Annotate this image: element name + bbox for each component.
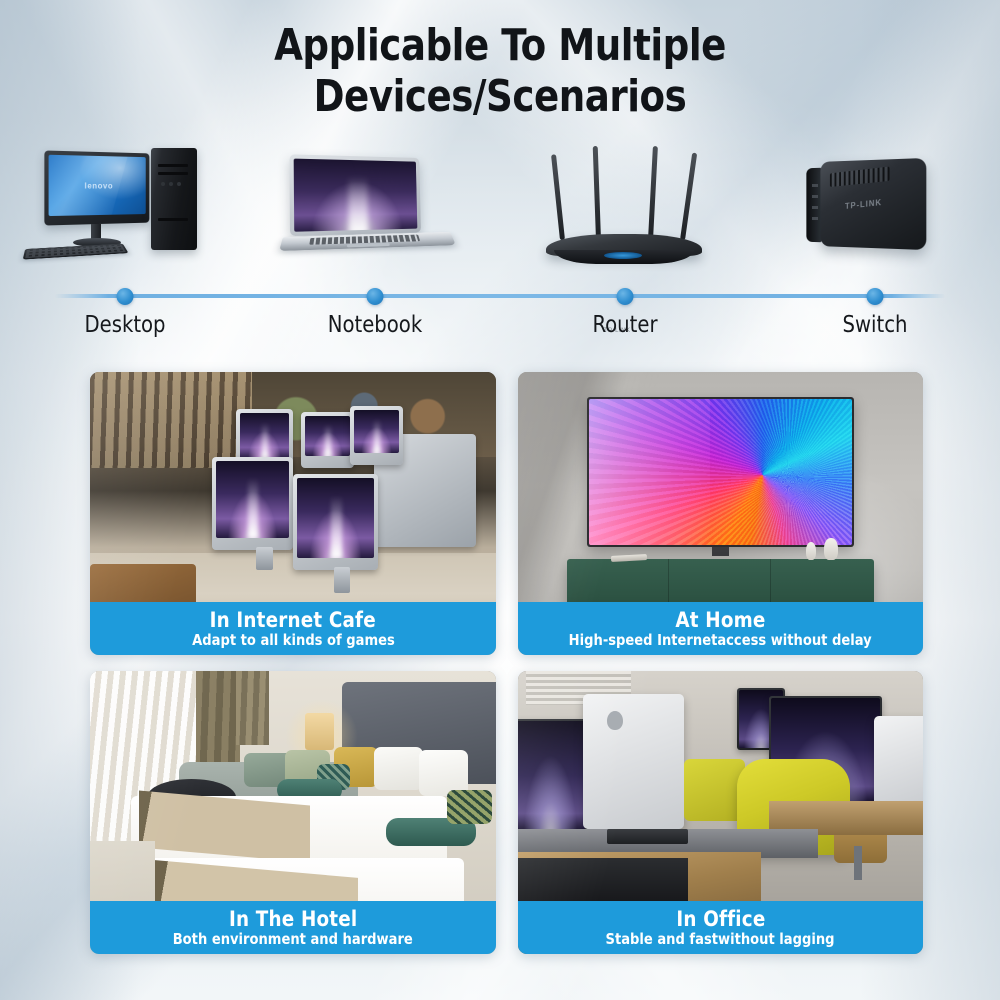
page-title-line-1: Applicable To Multiple bbox=[274, 20, 726, 71]
timeline-item-switch[interactable]: Switch bbox=[750, 282, 1000, 344]
timeline-items: Desktop Notebook Router Switch bbox=[0, 282, 1000, 344]
scenario-subtitle: High-speed Internetaccess without delay bbox=[569, 632, 872, 649]
promo-page: Applicable To Multiple Devices/Scenarios… bbox=[0, 0, 1000, 1000]
timeline-item-desktop[interactable]: Desktop bbox=[0, 282, 250, 344]
router-led-indicator bbox=[604, 252, 642, 259]
router-antenna bbox=[593, 146, 601, 240]
scenario-caption: In The Hotel Both environment and hardwa… bbox=[90, 901, 496, 954]
timeline-dot-icon bbox=[367, 288, 384, 305]
device-timeline: Desktop Notebook Router Switch bbox=[0, 282, 1000, 344]
router-antenna bbox=[680, 153, 697, 241]
scenario-card-row-top: In Internet Cafe Adapt to all kinds of g… bbox=[90, 372, 923, 655]
scenario-card-internet-cafe[interactable]: In Internet Cafe Adapt to all kinds of g… bbox=[90, 372, 496, 655]
device-cell-switch: TP-LINK bbox=[750, 140, 1000, 290]
switch-led-strip bbox=[812, 184, 818, 228]
laptop-screen bbox=[294, 159, 418, 232]
timeline-label: Desktop bbox=[84, 312, 165, 338]
scenario-subtitle: Adapt to all kinds of games bbox=[192, 632, 395, 649]
router-antenna bbox=[648, 146, 658, 240]
device-cell-router: TP-LINK bbox=[500, 140, 750, 290]
scenario-caption: At Home High-speed Internetaccess withou… bbox=[518, 602, 923, 655]
timeline-dot-icon bbox=[867, 288, 884, 305]
pc-tower-icon bbox=[151, 148, 197, 250]
laptop-icon bbox=[280, 156, 470, 266]
scenario-title: In Office bbox=[676, 908, 765, 930]
wifi-router-icon: TP-LINK bbox=[540, 144, 710, 268]
scenario-card-row-bottom: In The Hotel Both environment and hardwa… bbox=[90, 671, 923, 954]
scenario-title: In The Hotel bbox=[229, 908, 357, 930]
timeline-item-notebook[interactable]: Notebook bbox=[250, 282, 500, 344]
television-icon bbox=[587, 397, 854, 547]
page-title-line-2: Devices/Scenarios bbox=[30, 71, 970, 122]
timeline-dot-icon bbox=[117, 288, 134, 305]
scenario-subtitle: Both environment and hardware bbox=[173, 931, 413, 948]
page-title: Applicable To Multiple Devices/Scenarios bbox=[30, 0, 970, 122]
scenario-caption: In Office Stable and fastwithout lagging bbox=[518, 901, 923, 954]
timeline-label: Router bbox=[592, 312, 657, 338]
desktop-computer-icon: lenovo bbox=[25, 146, 225, 266]
timeline-item-router[interactable]: Router bbox=[500, 282, 750, 344]
laptop-trackpad bbox=[347, 243, 389, 247]
scenario-title: At Home bbox=[675, 609, 765, 631]
laptop-lid bbox=[289, 154, 420, 236]
scenario-subtitle: Stable and fastwithout lagging bbox=[606, 931, 835, 948]
timeline-label: Notebook bbox=[328, 312, 422, 338]
scenario-caption: In Internet Cafe Adapt to all kinds of g… bbox=[90, 602, 496, 655]
monitor-screen: lenovo bbox=[49, 155, 146, 216]
scenario-card-at-home[interactable]: At Home High-speed Internetaccess withou… bbox=[518, 372, 923, 655]
timeline-label: Switch bbox=[842, 312, 907, 338]
monitor-icon: lenovo bbox=[44, 150, 149, 225]
device-illustration-row: lenovo bbox=[0, 140, 1000, 290]
scenario-card-in-office[interactable]: In Office Stable and fastwithout lagging bbox=[518, 671, 923, 954]
network-switch-icon: TP-LINK bbox=[800, 154, 950, 264]
timeline-dot-icon bbox=[617, 288, 634, 305]
monitor-brand-label: lenovo bbox=[85, 181, 114, 190]
device-cell-desktop: lenovo bbox=[0, 140, 250, 290]
scenario-card-in-the-hotel[interactable]: In The Hotel Both environment and hardwa… bbox=[90, 671, 496, 954]
scenario-card-grid: In Internet Cafe Adapt to all kinds of g… bbox=[90, 372, 923, 970]
device-cell-notebook bbox=[250, 140, 500, 290]
keyboard-icon bbox=[23, 244, 129, 260]
scenario-title: In Internet Cafe bbox=[210, 609, 376, 631]
router-antenna bbox=[551, 154, 565, 240]
